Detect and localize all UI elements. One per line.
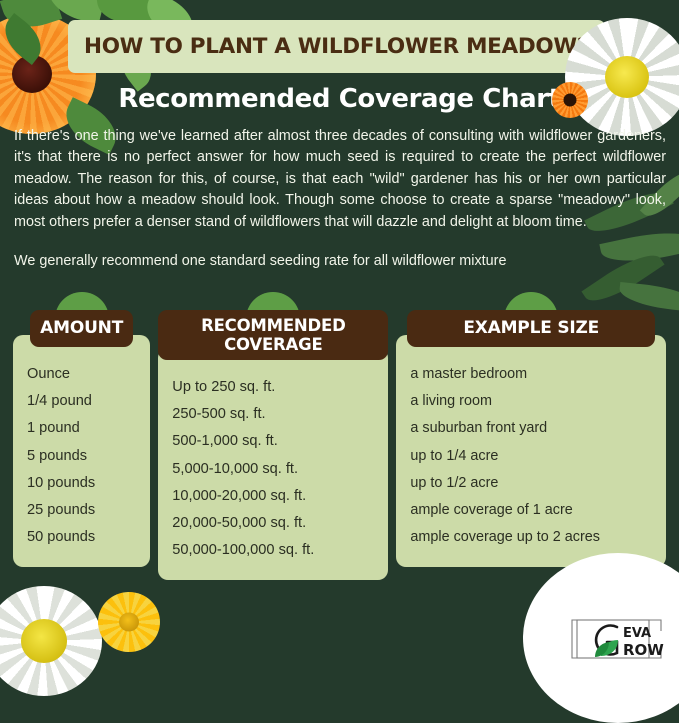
column-header-coverage: RECOMMENDED COVERAGE — [158, 310, 388, 360]
logo-mark: EVA ROW — [571, 613, 667, 665]
cell-coverage-1: 250-500 sq. ft. — [172, 401, 374, 428]
yellow-coreopsis-bottomleft — [98, 592, 160, 652]
cell-coverage-0: Up to 250 sq. ft. — [172, 374, 374, 401]
cell-amount-2: 1 pound — [27, 415, 136, 442]
cell-example-2: a suburban front yard — [410, 415, 652, 442]
title-band: HOW TO PLANT A WILDFLOWER MEADOW? — [68, 20, 605, 73]
column-header-example-label: EXAMPLE SIZE — [463, 319, 599, 338]
cell-amount-0: Ounce — [27, 361, 136, 388]
column-header-amount: AMOUNT — [30, 310, 133, 347]
body-copy: If there's one thing we've learned after… — [14, 126, 666, 272]
panel-coverage: Up to 250 sq. ft. 250-500 sq. ft. 500-1,… — [158, 348, 388, 580]
cell-example-4: up to 1/2 acre — [410, 470, 652, 497]
intro-paragraph: If there's one thing we've learned after… — [14, 126, 666, 233]
column-amount: AMOUNT Ounce 1/4 pound 1 pound 5 pounds … — [13, 310, 150, 567]
cell-example-0: a master bedroom — [410, 361, 652, 388]
cell-coverage-6: 50,000-100,000 sq. ft. — [172, 537, 374, 564]
column-recommended-coverage: RECOMMENDED COVERAGE Up to 250 sq. ft. 2… — [158, 310, 388, 580]
cell-example-5: ample coverage of 1 acre — [410, 497, 652, 524]
subtitle-row: Recommended Coverage Chart — [0, 76, 679, 122]
column-header-coverage-label: RECOMMENDED COVERAGE — [201, 316, 346, 354]
cell-coverage-5: 20,000-50,000 sq. ft. — [172, 510, 374, 537]
cell-coverage-2: 500-1,000 sq. ft. — [172, 428, 374, 455]
column-header-amount-label: AMOUNT — [40, 319, 123, 338]
logo-text-row: ROW — [623, 641, 664, 659]
panel-amount: Ounce 1/4 pound 1 pound 5 pounds 10 poun… — [13, 335, 150, 567]
coverage-table: AMOUNT Ounce 1/4 pound 1 pound 5 pounds … — [0, 310, 679, 580]
recommendation-note: We generally recommend one standard seed… — [14, 251, 666, 272]
column-example-size: EXAMPLE SIZE a master bedroom a living r… — [396, 310, 666, 567]
cell-amount-4: 10 pounds — [27, 470, 136, 497]
logo-text-eva: EVA — [623, 626, 651, 641]
cell-amount-1: 1/4 pound — [27, 388, 136, 415]
cell-amount-3: 5 pounds — [27, 443, 136, 470]
cell-coverage-4: 10,000-20,000 sq. ft. — [172, 483, 374, 510]
cell-example-1: a living room — [410, 388, 652, 415]
page-title: HOW TO PLANT A WILDFLOWER MEADOW? — [84, 34, 589, 59]
cell-example-6: ample coverage up to 2 acres — [410, 524, 652, 551]
panel-example: a master bedroom a living room a suburba… — [396, 335, 666, 567]
page-subtitle: Recommended Coverage Chart — [118, 84, 560, 114]
cell-amount-5: 25 pounds — [27, 497, 136, 524]
cell-example-3: up to 1/4 acre — [410, 443, 652, 470]
eva-grow-logo: EVA ROW — [571, 613, 667, 665]
column-header-example: EXAMPLE SIZE — [407, 310, 655, 347]
cell-amount-6: 50 pounds — [27, 524, 136, 551]
cell-coverage-3: 5,000-10,000 sq. ft. — [172, 456, 374, 483]
white-daisy-bottomleft — [0, 586, 102, 696]
